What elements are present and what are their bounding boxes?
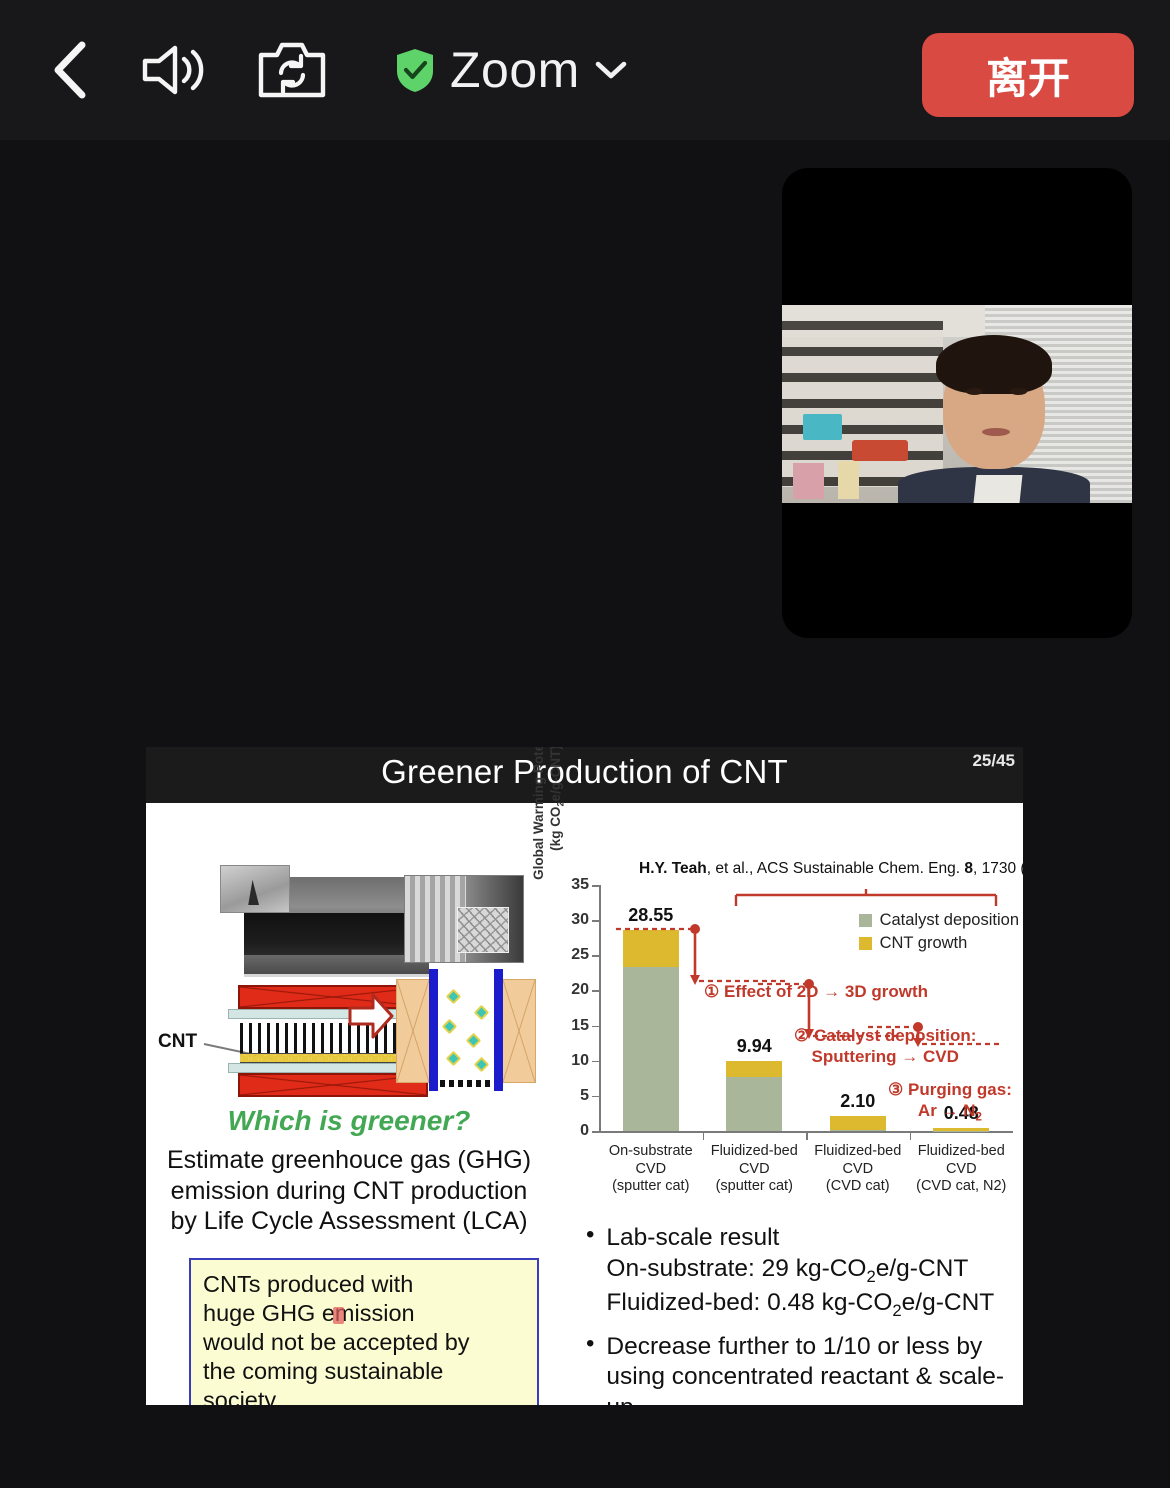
x-axis-category-line: (CVD cat, N2) (910, 1178, 1014, 1196)
video-person-eye (1010, 388, 1028, 395)
bar-segment-cnt-growth (933, 1128, 989, 1131)
reactor-photo (404, 875, 524, 963)
legend-label: CNT growth (880, 934, 968, 953)
annotation-3-text: Purging gas: (908, 1080, 1012, 1099)
x-axis-category-line: (sputter cat) (599, 1178, 703, 1196)
video-object (852, 440, 908, 462)
annotation-3: ③ Purging gas: Ar → N2 (888, 1079, 1012, 1125)
legend-swatch (859, 914, 872, 927)
x-axis-category-line: On-substrate (599, 1143, 703, 1161)
chart-bar (623, 930, 679, 1131)
catalyst-particle (474, 1005, 490, 1021)
x-axis-category-line: Fluidized-bed (703, 1143, 807, 1161)
sem-cnt-film (244, 913, 429, 955)
annotation-1-text: Effect of 2D → 3D growth (724, 982, 928, 1001)
chart-bar (830, 1116, 886, 1131)
zoom-meeting-screen: Zoom 离开 Greener Prod (0, 0, 1170, 1488)
y-axis-tick-label: 15 (571, 1017, 589, 1035)
callout-box: CNTs produced with huge GHG emission wou… (189, 1258, 539, 1405)
callout-line: CNTs produced with (203, 1270, 525, 1299)
catalyst-particle (446, 989, 462, 1005)
sem-image-inset (220, 865, 290, 913)
y-axis-tick-label: 35 (571, 876, 589, 894)
x-axis-category-line: CVD (703, 1161, 807, 1179)
annotation-2-text2: Sputtering → CVD (794, 1046, 976, 1067)
x-axis-category-line: CVD (599, 1161, 703, 1179)
annotation-2-row: ② Catalyst deposition: (794, 1025, 976, 1046)
annotation-1-circle: ① (704, 982, 719, 1001)
greener-heading: Which is greener? (154, 1105, 544, 1137)
x-axis-category-label: Fluidized-bedCVD(sputter cat) (703, 1143, 807, 1196)
y-axis-tick-label: 10 (571, 1052, 589, 1070)
chart-y-axis-title: Global Warming Potential (kg CO2e/g-CNT) (531, 747, 567, 903)
speaker-button[interactable] (138, 39, 214, 101)
self-view-tile[interactable] (782, 168, 1132, 638)
x-axis-category-label: On-substrateCVD(sputter cat) (599, 1143, 703, 1196)
slide-body: H.Y. Teah, et al., ACS Sustainable Chem.… (146, 803, 1023, 1405)
bar-segment-catalyst-deposition (726, 1077, 782, 1131)
annotation-3-row: ③ Purging gas: (888, 1079, 1012, 1100)
bullet-marker: • (586, 1332, 594, 1405)
process-illustration: CNT (152, 873, 532, 1088)
estimate-line: by Life Cycle Assessment (LCA) (154, 1206, 544, 1237)
x-axis-category-label: Fluidized-bedCVD(CVD cat) (806, 1143, 910, 1196)
callout-line: would not be accepted by (203, 1328, 525, 1357)
legend-swatch (859, 937, 872, 950)
x-axis-category-line: (CVD cat) (806, 1178, 910, 1196)
y-axis-tick-label: 30 (571, 911, 589, 929)
x-axis-category-line: (sputter cat) (703, 1178, 807, 1196)
video-object (803, 414, 842, 440)
y-axis-tick (592, 920, 599, 922)
switch-camera-button[interactable] (256, 39, 328, 101)
annotation-mark (333, 1307, 344, 1324)
shared-slide[interactable]: Greener Production of CNT 25/45 H.Y. Tea… (146, 747, 1023, 1405)
slide-number: 25/45 (972, 751, 1015, 771)
annotation-2: ② Catalyst deposition: Sputtering → CVD (794, 1025, 976, 1068)
catalyst-particle (446, 1051, 462, 1067)
cnt-callout-label: CNT (158, 1031, 197, 1053)
x-axis-category-line: CVD (806, 1161, 910, 1179)
annotation-3-text2: Ar → N2 (888, 1100, 1012, 1125)
self-view-video (782, 305, 1132, 503)
back-button[interactable] (44, 39, 96, 101)
bar-segment-cnt-growth (830, 1116, 886, 1130)
leave-meeting-button[interactable]: 离开 (922, 33, 1134, 117)
meeting-info-button[interactable]: Zoom (394, 45, 628, 95)
speaker-icon (139, 42, 213, 98)
estimate-line: emission during CNT production (154, 1176, 544, 1207)
y-axis-tick-label: 25 (571, 946, 589, 964)
bar-segment-cnt-growth (623, 930, 679, 967)
catalyst-particle (474, 1057, 490, 1073)
y-axis-tick (592, 1061, 599, 1063)
callout-line: huge GHG emission (203, 1299, 525, 1328)
chart-bar (726, 1061, 782, 1131)
x-axis-tick (910, 1133, 912, 1140)
slide-title: Greener Production of CNT (146, 753, 1023, 791)
video-person-shirt (973, 475, 1021, 503)
annotation-2-circle: ② (794, 1026, 809, 1045)
legend-item: Catalyst deposition (859, 911, 1019, 930)
reactor-wall-left (396, 979, 430, 1083)
x-axis-category-line: Fluidized-bed (910, 1143, 1014, 1161)
bullet-item: • Decrease further to 1/10 or less by us… (586, 1332, 1023, 1405)
reactor-pipe-left (429, 969, 438, 1091)
process-arrow-icon (348, 991, 394, 1041)
bar-value-label: 2.10 (840, 1091, 875, 1112)
x-axis-category-line: Fluidized-bed (806, 1143, 910, 1161)
chevron-down-icon[interactable] (594, 59, 628, 81)
bullet-text: Decrease further to 1/10 or less by usin… (606, 1332, 1023, 1405)
x-axis-category-line: CVD (910, 1161, 1014, 1179)
y-axis-tick (592, 1131, 599, 1133)
catalyst-particle (442, 1019, 458, 1035)
bullet-line: using concentrated reactant & scale-up (606, 1363, 1004, 1405)
bullet-line: Lab-scale result (606, 1224, 779, 1251)
bar-value-label: 28.55 (628, 905, 673, 926)
catalyst-particle (466, 1033, 482, 1049)
camera-flip-icon (257, 39, 327, 101)
x-axis-category-label: Fluidized-bedCVD(CVD cat, N2) (910, 1143, 1014, 1196)
legend-label: Catalyst deposition (880, 911, 1019, 930)
x-axis-tick (806, 1133, 808, 1140)
chevron-left-icon (50, 41, 90, 99)
shield-check-icon (394, 47, 436, 93)
chart-bar (933, 1128, 989, 1131)
bullet-line: Fluidized-bed: 0.48 kg-CO2e/g-CNT (606, 1289, 994, 1316)
y-axis-title-line1: Global Warming Potential (531, 747, 546, 880)
fluidized-bed-diagram (396, 969, 536, 1091)
result-bullets: • Lab-scale result On-substrate: 29 kg-C… (586, 1223, 1023, 1405)
reactor-photo-inset (457, 907, 509, 953)
bullet-marker: • (586, 1223, 594, 1322)
callout-line: the coming sustainable society. (203, 1357, 525, 1405)
bullet-line: Decrease further to 1/10 or less by (606, 1333, 982, 1360)
y-axis-tick (592, 990, 599, 992)
meeting-title: Zoom (450, 45, 580, 95)
video-shelving (782, 321, 943, 487)
video-person-mouth (982, 428, 1010, 436)
x-axis-tick (703, 1133, 705, 1140)
bar-value-label: 9.94 (737, 1036, 772, 1057)
meeting-top-bar: Zoom 离开 (0, 0, 1170, 140)
estimate-paragraph: Estimate greenhouce gas (GHG) emission d… (154, 1145, 544, 1237)
video-object (838, 461, 859, 499)
y-axis-tick-label: 5 (580, 1087, 589, 1105)
legend-item: CNT growth (859, 934, 1019, 953)
bullet-item: • Lab-scale result On-substrate: 29 kg-C… (586, 1223, 1023, 1322)
chart-legend: Catalyst deposition CNT growth (859, 911, 1019, 957)
y-axis-tick-label: 0 (580, 1122, 589, 1140)
chart-y-axis (599, 885, 601, 1133)
reactor-pipe-right (494, 969, 503, 1091)
video-person-hair (936, 335, 1052, 394)
y-axis-tick (592, 1026, 599, 1028)
estimate-line: Estimate greenhouce gas (GHG) (154, 1145, 544, 1176)
y-axis-tick (592, 885, 599, 887)
bar-segment-catalyst-deposition (623, 967, 679, 1131)
slide-title-bar: Greener Production of CNT 25/45 (146, 747, 1023, 803)
bar-segment-catalyst-deposition (830, 1130, 886, 1131)
bullet-line: On-substrate: 29 kg-CO2e/g-CNT (606, 1255, 968, 1282)
annotation-3-circle: ③ (888, 1080, 903, 1099)
bullet-text: Lab-scale result On-substrate: 29 kg-CO2… (606, 1223, 994, 1322)
y-axis-tick (592, 1096, 599, 1098)
y-axis-tick (592, 955, 599, 957)
bar-segment-cnt-growth (726, 1061, 782, 1077)
y-axis-tick-label: 20 (571, 981, 589, 999)
y-axis-title-line2: (kg CO2e/g-CNT) (548, 747, 563, 851)
annotation-2-text: Catalyst deposition: (814, 1026, 976, 1045)
gas-distributor (440, 1080, 494, 1087)
annotation-1: ① Effect of 2D → 3D growth (704, 981, 928, 1002)
video-object (793, 463, 825, 499)
